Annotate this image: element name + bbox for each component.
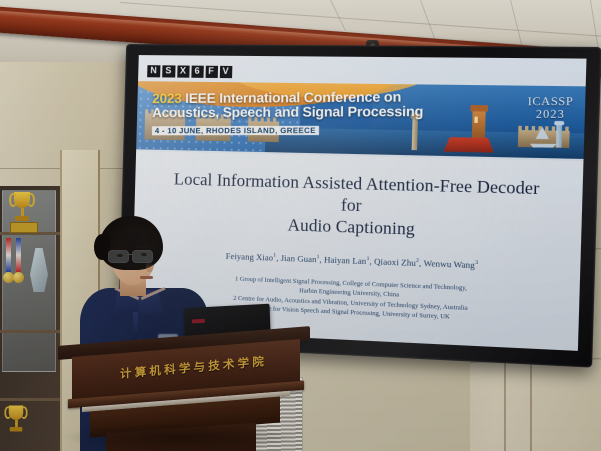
osd-char: 6 xyxy=(191,66,203,78)
author-sup: 1 xyxy=(366,256,369,262)
author-sup: 2 xyxy=(416,258,419,264)
author-sup: 1 xyxy=(273,252,276,258)
author-name: Haiyan Lan xyxy=(324,255,366,266)
eyeglasses-icon xyxy=(108,250,160,262)
medal-ribbon xyxy=(16,238,21,272)
presenter-nose xyxy=(146,262,153,272)
osd-overlay: N S X 6 F V xyxy=(147,65,232,78)
conference-banner: 2023 IEEE International Conference on Ac… xyxy=(136,81,586,159)
osd-char: X xyxy=(177,65,190,77)
lighthouse-icon xyxy=(528,122,573,150)
presenter-mouth xyxy=(140,276,153,279)
banner-line3: 4 - 10 JUNE, RHODES ISLAND, GREECE xyxy=(152,126,319,136)
laptop-logo xyxy=(192,319,205,323)
banner-text: 2023 IEEE International Conference on Ac… xyxy=(152,90,423,138)
icassp-logo: ICASSP 2023 xyxy=(527,96,573,149)
author-name: Wenwu Wang xyxy=(423,259,475,270)
author-name: Qiaoxi Zhu xyxy=(374,257,416,268)
osd-char: F xyxy=(205,66,218,78)
author-sup: 3 xyxy=(475,260,478,266)
author-name: Feiyang Xiao xyxy=(226,252,274,263)
trophy-cabinet xyxy=(0,186,63,451)
icassp-logo-word: ICASSP xyxy=(528,96,574,108)
osd-char: V xyxy=(219,66,232,78)
medal-ribbon xyxy=(6,238,11,272)
author-sup: 1 xyxy=(317,254,320,260)
presentation-room-photo: N S X 6 F V xyxy=(0,0,601,451)
banner-year: 2023 xyxy=(152,91,181,106)
floor-shadow xyxy=(60,424,300,451)
banner-line2: Acoustics, Speech and Signal Processing xyxy=(152,104,423,120)
slide-title: Local Information Assisted Attention-Fre… xyxy=(163,168,549,245)
osd-char: S xyxy=(162,65,175,77)
author-name: Jian Guan xyxy=(281,254,317,265)
award-plaque xyxy=(10,222,38,233)
trophy-icon xyxy=(9,405,23,431)
trophy-icon xyxy=(14,192,30,221)
slide-authors: Feiyang Xiao1, Jian Guan1, Haiyan Lan1, … xyxy=(158,248,552,273)
icassp-logo-year: 2023 xyxy=(528,108,574,121)
osd-char: N xyxy=(147,65,160,77)
